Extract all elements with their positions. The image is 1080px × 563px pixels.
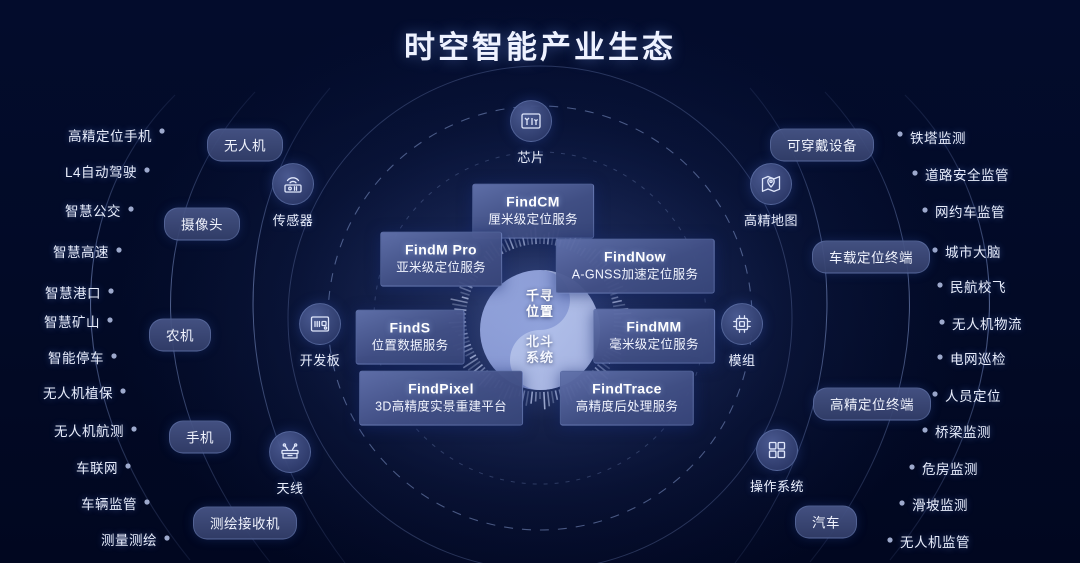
scenario-label-dot (932, 247, 937, 252)
product-name: FindPixel (375, 380, 507, 399)
infographic-canvas: 时空智能产业生态 千寻位置 北斗系统 FindCM厘米级定 (0, 0, 1080, 563)
scenario-label[interactable]: L4自动驾驶 (65, 161, 137, 181)
icon-node-label: 高精地图 (744, 210, 798, 229)
product-name: FindTrace (576, 380, 678, 399)
scenario-label[interactable]: 智慧高速 (53, 241, 109, 261)
device-pill[interactable]: 无人机 (207, 129, 283, 162)
product-desc: 高精度后处理服务 (576, 399, 678, 416)
device-pill[interactable]: 测绘接收机 (193, 507, 297, 540)
scenario-label[interactable]: 测量测绘 (101, 529, 157, 549)
core-label-top: 千寻位置 (526, 288, 554, 321)
device-pill[interactable]: 可穿戴设备 (770, 129, 874, 162)
page-title: 时空智能产业生态 (0, 22, 1080, 67)
scenario-label-dot (116, 247, 121, 252)
icon-node-map-pin[interactable]: 高精地图 (729, 163, 813, 229)
scenario-label-dot (922, 427, 927, 432)
core-label-bottom: 北斗系统 (526, 334, 554, 367)
product-desc: 厘米级定位服务 (488, 212, 578, 229)
scenario-label-dot (937, 282, 942, 287)
scenario-label[interactable]: 人员定位 (945, 385, 1001, 405)
scenario-label-dot (125, 463, 130, 468)
map-pin-icon (750, 163, 792, 205)
product-desc: 位置数据服务 (372, 338, 449, 355)
scenario-label[interactable]: 城市大脑 (945, 241, 1001, 261)
device-pill[interactable]: 高精定位终端 (813, 388, 931, 421)
scenario-label-dot (939, 319, 944, 324)
scenario-label[interactable]: 高精定位手机 (68, 125, 152, 145)
icon-node-label: 模组 (728, 350, 755, 369)
product-box-findtrace[interactable]: FindTrace高精度后处理服务 (560, 371, 694, 426)
product-box-findm-pro[interactable]: FindM Pro亚米级定位服务 (380, 232, 502, 287)
icon-node-label: 天线 (276, 478, 303, 497)
scenario-label-dot (887, 537, 892, 542)
product-box-findcm[interactable]: FindCM厘米级定位服务 (472, 184, 594, 239)
device-pill[interactable]: 车载定位终端 (812, 241, 930, 274)
scenario-label[interactable]: 无人机航测 (54, 420, 124, 440)
scenario-label-dot (107, 317, 112, 322)
product-name: FindNow (572, 248, 699, 267)
antenna-icon (269, 431, 311, 473)
chip-panel-icon (510, 100, 552, 142)
module-chip-icon (721, 303, 763, 345)
scenario-label[interactable]: 道路安全监管 (925, 164, 1009, 184)
product-name: FindS (372, 319, 449, 338)
scenario-label[interactable]: 危房监测 (922, 458, 978, 478)
scenario-label[interactable]: 车联网 (76, 457, 118, 477)
icon-node-antenna[interactable]: 天线 (248, 431, 332, 497)
product-desc: 毫米级定位服务 (609, 337, 699, 354)
icon-node-os-grid[interactable]: 操作系统 (735, 429, 819, 495)
device-pill[interactable]: 摄像头 (164, 208, 240, 241)
product-box-findmm[interactable]: FindMM毫米级定位服务 (593, 309, 715, 364)
product-desc: A-GNSS加速定位服务 (572, 267, 699, 284)
icon-node-label: 开发板 (300, 350, 341, 369)
scenario-label[interactable]: 智慧港口 (45, 282, 101, 302)
product-desc: 3D高精度实景重建平台 (375, 399, 507, 416)
devboard-icon (299, 303, 341, 345)
scenario-label[interactable]: 智慧公交 (65, 200, 121, 220)
scenario-label-dot (131, 426, 136, 431)
product-desc: 亚米级定位服务 (396, 260, 486, 277)
scenario-label-dot (120, 388, 125, 393)
scenario-label[interactable]: 车辆监管 (81, 493, 137, 513)
scenario-label[interactable]: 无人机物流 (952, 313, 1022, 333)
scenario-label-dot (144, 167, 149, 172)
scenario-label[interactable]: 网约车监管 (935, 201, 1005, 221)
scenario-label[interactable]: 无人机植保 (43, 382, 113, 402)
scenario-label-dot (108, 288, 113, 293)
os-grid-icon (756, 429, 798, 471)
scenario-label-dot (128, 206, 133, 211)
scenario-label-dot (909, 464, 914, 469)
icon-node-module-chip[interactable]: 模组 (700, 303, 784, 369)
device-pill[interactable]: 农机 (149, 319, 211, 352)
scenario-label[interactable]: 民航校飞 (950, 276, 1006, 296)
scenario-label-dot (922, 207, 927, 212)
product-name: FindCM (488, 193, 578, 212)
product-box-findpixel[interactable]: FindPixel3D高精度实景重建平台 (359, 371, 523, 426)
scenario-label[interactable]: 电网巡检 (950, 348, 1006, 368)
scenario-label[interactable]: 无人机监管 (900, 531, 970, 551)
icon-node-devboard[interactable]: 开发板 (278, 303, 362, 369)
scenario-label-dot (912, 170, 917, 175)
icon-node-sensor[interactable]: 传感器 (251, 163, 335, 229)
scenario-label-dot (937, 354, 942, 359)
scenario-label-dot (932, 391, 937, 396)
scenario-label[interactable]: 智能停车 (48, 347, 104, 367)
icon-node-label: 芯片 (517, 147, 544, 166)
product-box-finds[interactable]: FindS位置数据服务 (356, 310, 465, 365)
scenario-label-dot (897, 131, 902, 136)
scenario-label-dot (144, 499, 149, 504)
scenario-label[interactable]: 铁塔监测 (910, 127, 966, 147)
product-box-findnow[interactable]: FindNowA-GNSS加速定位服务 (556, 239, 715, 294)
device-pill[interactable]: 汽车 (795, 506, 857, 539)
product-name: FindM Pro (396, 241, 486, 260)
icon-node-chip-panel[interactable]: 芯片 (489, 100, 573, 166)
device-pill[interactable]: 手机 (169, 421, 231, 454)
sensor-icon (272, 163, 314, 205)
scenario-label[interactable]: 智慧矿山 (44, 311, 100, 331)
icon-node-label: 操作系统 (750, 476, 804, 495)
scenario-label[interactable]: 滑坡监测 (912, 494, 968, 514)
scenario-label-dot (159, 128, 164, 133)
scenario-label[interactable]: 桥梁监测 (935, 421, 991, 441)
product-name: FindMM (609, 318, 699, 337)
scenario-label-dot (111, 353, 116, 358)
scenario-label-dot (899, 500, 904, 505)
scenario-label-dot (164, 535, 169, 540)
icon-node-label: 传感器 (273, 210, 314, 229)
